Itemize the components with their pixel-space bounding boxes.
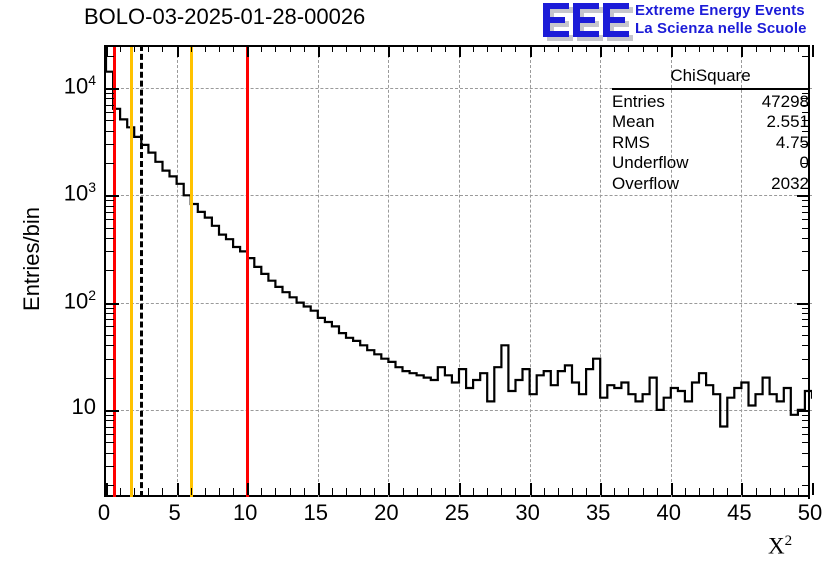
eee-logo-line1: Extreme Energy Events xyxy=(635,2,807,20)
y-tick-minor xyxy=(106,453,114,454)
y-tick-label: 104 xyxy=(34,72,96,99)
eee-logo-text: Extreme Energy Events La Scienza nelle S… xyxy=(635,2,807,38)
y-tick-minor xyxy=(106,93,114,94)
letter-e-icon xyxy=(603,3,629,37)
y-tick-minor xyxy=(106,313,114,314)
stats-row-value: 47298 xyxy=(762,92,809,113)
stats-row-key: RMS xyxy=(612,133,650,154)
x-axis-title-exponent: 2 xyxy=(785,533,793,549)
x-tick-minor xyxy=(233,488,234,495)
x-tick-major xyxy=(388,483,390,495)
stats-row-value: 4.75 xyxy=(776,133,809,154)
x-tick-minor xyxy=(544,488,545,495)
y-tick-minor xyxy=(106,251,114,252)
y-tick-label: 10 xyxy=(34,394,96,420)
y-tick-minor xyxy=(106,238,114,239)
y-tick-minor xyxy=(106,427,114,428)
stats-row-value: 2032 xyxy=(771,174,809,195)
y-tick-minor xyxy=(106,308,114,309)
stats-row-key: Entries xyxy=(612,92,665,113)
stats-row: RMS4.75 xyxy=(612,133,809,154)
y-tick-label: 103 xyxy=(34,179,96,206)
y-tick-minor xyxy=(106,466,114,467)
stats-row: Mean2.551 xyxy=(612,112,809,133)
x-tick-major xyxy=(600,483,602,495)
stats-row-key: Mean xyxy=(612,112,655,133)
x-axis-title: X2 xyxy=(768,533,792,560)
stats-row: Overflow2032 xyxy=(612,174,809,195)
x-tick-minor xyxy=(275,488,276,495)
x-tick-minor xyxy=(332,488,333,495)
y-tick-minor xyxy=(106,485,114,486)
x-tick-minor xyxy=(657,488,658,495)
y-tick-minor xyxy=(106,212,114,213)
y-tick-minor xyxy=(106,163,114,164)
x-tick-minor xyxy=(685,488,686,495)
x-tick-minor xyxy=(558,488,559,495)
x-tick-major xyxy=(318,483,320,495)
y-tick-major xyxy=(106,303,119,305)
x-tick-minor xyxy=(515,488,516,495)
x-tick-label: 30 xyxy=(498,500,558,526)
x-tick-minor xyxy=(487,488,488,495)
x-tick-label: 50 xyxy=(780,500,836,526)
x-tick-minor xyxy=(403,488,404,495)
x-tick-label: 25 xyxy=(427,500,487,526)
x-tick-minor xyxy=(360,488,361,495)
y-tick-minor xyxy=(106,378,114,379)
y-tick-minor xyxy=(106,206,114,207)
y-tick-minor xyxy=(106,345,114,346)
y-tick-minor xyxy=(106,200,114,201)
x-tick-label: 40 xyxy=(639,500,699,526)
x-tick-minor xyxy=(148,488,149,495)
x-tick-minor xyxy=(784,488,785,495)
y-tick-minor xyxy=(106,270,114,271)
x-tick-minor xyxy=(374,488,375,495)
y-tick-minor xyxy=(106,144,114,145)
x-tick-minor xyxy=(205,488,206,495)
y-tick-label: 102 xyxy=(34,287,96,314)
x-tick-label: 35 xyxy=(568,500,628,526)
x-tick-label: 45 xyxy=(709,500,769,526)
x-tick-minor xyxy=(756,488,757,495)
y-tick-major xyxy=(106,410,119,412)
y-tick-major xyxy=(106,88,119,90)
y-tick-minor xyxy=(106,105,114,106)
x-tick-label: 10 xyxy=(215,500,275,526)
y-tick-minor xyxy=(106,131,114,132)
x-tick-label: 15 xyxy=(286,500,346,526)
x-tick-major xyxy=(741,483,743,495)
y-tick-minor xyxy=(106,319,114,320)
cut-line-dashed-mean xyxy=(140,45,143,497)
y-tick-minor xyxy=(106,335,114,336)
x-tick-minor xyxy=(628,488,629,495)
cut-line-red-high xyxy=(246,45,249,497)
x-tick-minor xyxy=(162,488,163,495)
y-tick-minor xyxy=(106,434,114,435)
y-tick-minor xyxy=(106,228,114,229)
x-tick-minor xyxy=(219,488,220,495)
stats-row-value: 2.551 xyxy=(766,112,809,133)
x-tick-minor xyxy=(473,488,474,495)
x-tick-minor xyxy=(614,488,615,495)
root-canvas: BOLO-03-2025-01-28-00026 Extreme Energy … xyxy=(0,0,836,572)
x-tick-minor xyxy=(261,488,262,495)
stats-row: Underflow0 xyxy=(612,153,809,174)
x-axis-title-base: X xyxy=(768,534,785,559)
y-tick-minor xyxy=(106,98,114,99)
letter-e-icon xyxy=(543,3,569,37)
x-tick-minor xyxy=(290,488,291,495)
x-tick-minor xyxy=(713,488,714,495)
eee-logo-mark xyxy=(543,3,629,39)
x-tick-minor xyxy=(699,488,700,495)
y-tick-minor xyxy=(106,326,114,327)
x-tick-major xyxy=(177,483,179,495)
x-tick-major xyxy=(671,483,673,495)
cut-line-gold-low xyxy=(130,45,133,497)
x-tick-minor xyxy=(798,488,799,495)
stats-box: ChiSquare Entries47298Mean2.551RMS4.75Un… xyxy=(612,66,809,194)
stats-row-value: 0 xyxy=(800,153,809,174)
y-tick-minor xyxy=(106,112,114,113)
x-tick-label: 5 xyxy=(145,500,205,526)
x-tick-label: 0 xyxy=(74,500,134,526)
x-tick-major xyxy=(812,483,814,495)
x-tick-major xyxy=(459,483,461,495)
eee-logo: Extreme Energy Events La Scienza nelle S… xyxy=(543,2,835,42)
letter-e-icon xyxy=(573,3,599,37)
x-tick-minor xyxy=(572,488,573,495)
x-tick-minor xyxy=(770,488,771,495)
x-tick-minor xyxy=(134,488,135,495)
x-tick-minor xyxy=(120,488,121,495)
x-tick-top xyxy=(812,45,814,57)
plot-frame-top-edge xyxy=(104,45,810,47)
stats-rows: Entries47298Mean2.551RMS4.75Underflow0Ov… xyxy=(612,92,809,195)
x-tick-minor xyxy=(586,488,587,495)
y-tick-minor xyxy=(106,415,114,416)
x-tick-minor xyxy=(191,488,192,495)
y-tick-minor xyxy=(106,56,114,57)
cut-line-gold-high xyxy=(190,45,193,497)
x-tick-major xyxy=(530,483,532,495)
x-tick-minor xyxy=(346,488,347,495)
stats-row-key: Overflow xyxy=(612,174,679,195)
x-tick-minor xyxy=(445,488,446,495)
x-tick-minor xyxy=(501,488,502,495)
x-tick-minor xyxy=(304,488,305,495)
stats-row-key: Underflow xyxy=(612,153,689,174)
x-tick-minor xyxy=(417,488,418,495)
y-tick-major xyxy=(106,195,119,197)
stats-divider xyxy=(612,88,809,90)
stats-header: ChiSquare xyxy=(612,66,809,88)
y-tick-minor xyxy=(106,420,114,421)
x-tick-major xyxy=(247,483,249,495)
y-tick-minor xyxy=(106,359,114,360)
x-tick-minor xyxy=(431,488,432,495)
page-title: BOLO-03-2025-01-28-00026 xyxy=(84,4,365,30)
stats-row: Entries47298 xyxy=(612,92,809,113)
x-tick-label: 20 xyxy=(356,500,416,526)
eee-logo-line2: La Scienza nelle Scuole xyxy=(635,20,807,38)
y-tick-minor xyxy=(106,219,114,220)
x-tick-minor xyxy=(643,488,644,495)
x-tick-minor xyxy=(727,488,728,495)
y-tick-minor xyxy=(106,442,114,443)
y-tick-minor xyxy=(106,120,114,121)
